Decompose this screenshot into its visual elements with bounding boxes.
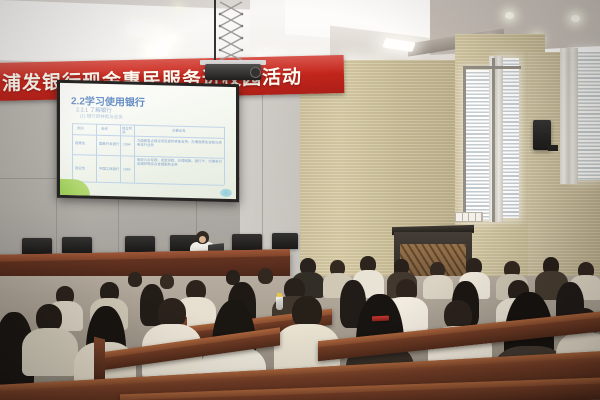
projection-screen: 2.2学习使用银行 2.2.1 了解银行 (1) 银行的种类与业务 类别 名称 … bbox=[60, 83, 236, 199]
stage-chair bbox=[232, 234, 262, 250]
downlight-icon bbox=[571, 15, 580, 22]
window-curtain bbox=[560, 48, 578, 184]
smartphone-icon bbox=[372, 316, 389, 322]
projector-lens-icon bbox=[250, 67, 261, 78]
projector-scissor-lift bbox=[216, 0, 246, 68]
speaker-mount bbox=[548, 145, 558, 151]
window-frame bbox=[463, 68, 466, 222]
bottle-cap bbox=[277, 293, 282, 297]
projection-screen-frame: 2.2学习使用银行 2.2.1 了解银行 (1) 银行的种类与业务 类别 名称 … bbox=[57, 80, 239, 202]
downlight-icon bbox=[505, 12, 514, 19]
lecture-hall-photo: 浦发银行现金惠民服务进校园活动 2.2学习使用银行 2.2.1 了解银行 (1)… bbox=[0, 0, 600, 400]
presenter-face bbox=[199, 236, 206, 243]
screen-glare bbox=[60, 83, 236, 199]
window-frame bbox=[492, 58, 495, 222]
downlight-icon bbox=[176, 6, 181, 10]
stage-chair bbox=[272, 233, 298, 249]
light-switch-panel[interactable] bbox=[455, 212, 483, 222]
audience-torso bbox=[22, 328, 78, 376]
water-bottle bbox=[276, 296, 283, 310]
window-frame bbox=[463, 66, 521, 69]
scissor-lift-icon bbox=[216, 0, 246, 68]
light-switch[interactable] bbox=[476, 213, 483, 221]
